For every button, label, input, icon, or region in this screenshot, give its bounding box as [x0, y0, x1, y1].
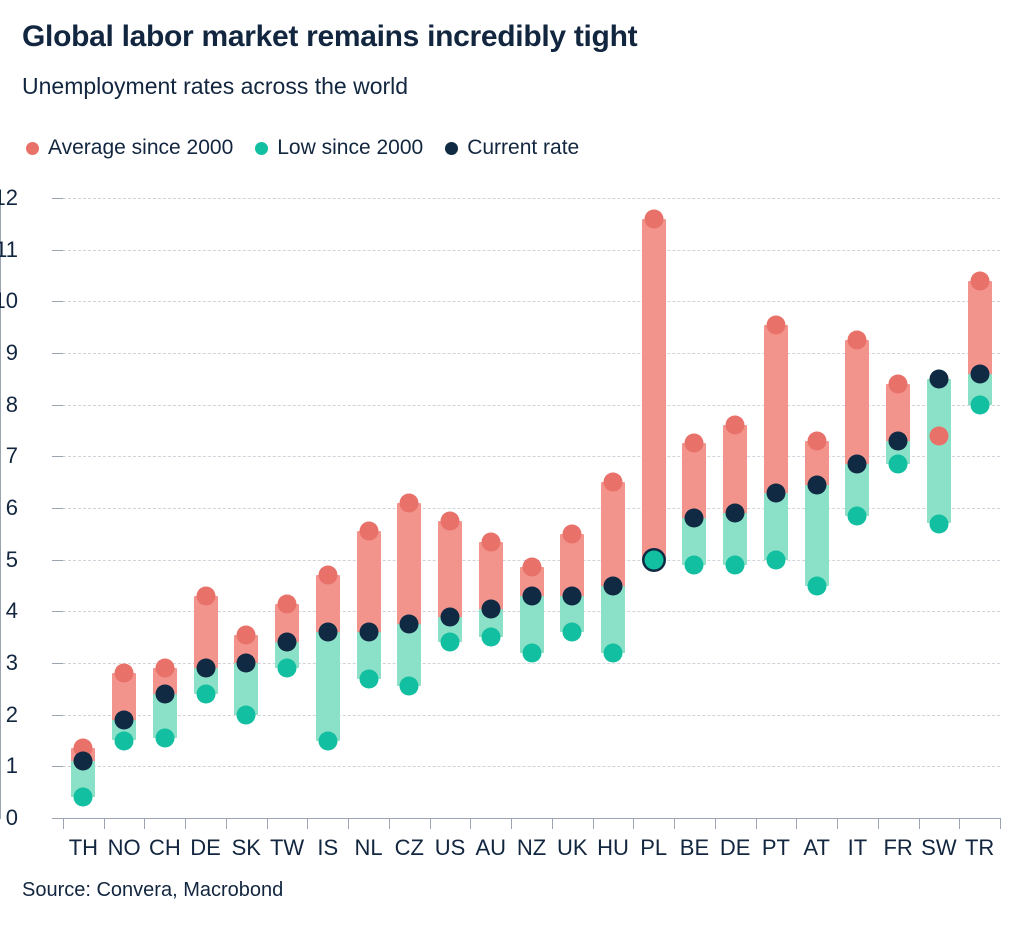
page-title: Global labor market remains incredibly t…: [22, 20, 637, 54]
legend-label-average: Average since 2000: [48, 136, 233, 160]
x-tick-label-pl-14: PL: [640, 835, 667, 861]
x-tick-mark: [837, 818, 838, 829]
y-tick-mark: [52, 405, 63, 406]
y-tick-label: 0: [6, 805, 18, 831]
chart-page: Global labor market remains incredibly t…: [0, 0, 1024, 929]
x-tick-mark: [267, 818, 268, 829]
x-tick-label-ch-2: CH: [149, 835, 181, 861]
x-tick-mark: [919, 818, 920, 829]
x-tick-mark: [959, 818, 960, 829]
x-tick-mark: [144, 818, 145, 829]
bar-group[interactable]: [63, 198, 1000, 818]
y-tick-mark: [52, 715, 63, 716]
y-tick-mark: [52, 560, 63, 561]
x-tick-label-uk-12: UK: [557, 835, 588, 861]
y-tick-mark: [52, 663, 63, 664]
x-tick-mark: [63, 818, 64, 829]
x-tick-mark: [307, 818, 308, 829]
x-tick-mark: [185, 818, 186, 829]
legend-item-average[interactable]: Average since 2000: [26, 136, 233, 160]
y-tick-label: 11: [0, 237, 18, 263]
x-tick-mark: [389, 818, 390, 829]
y-tick-label: 3: [6, 650, 18, 676]
legend-item-low[interactable]: Low since 2000: [255, 136, 423, 160]
source-note: Source: Convera, Macrobond: [22, 879, 283, 902]
y-tick-label: 5: [6, 547, 18, 573]
legend-label-low: Low since 2000: [277, 136, 423, 160]
x-tick-mark: [470, 818, 471, 829]
y-tick-mark: [52, 198, 63, 199]
x-tick-mark: [633, 818, 634, 829]
x-tick-label-at-18: AT: [803, 835, 829, 861]
data-point-low: [970, 395, 989, 414]
x-tick-label-de-3: DE: [190, 835, 221, 861]
x-tick-label-tw-5: TW: [270, 835, 304, 861]
x-tick-label-no-1: NO: [108, 835, 141, 861]
y-tick-mark: [52, 611, 63, 612]
x-tick-label-nl-7: NL: [354, 835, 382, 861]
y-tick-label: 2: [6, 702, 18, 728]
legend-label-current: Current rate: [467, 136, 579, 160]
x-tick-mark: [552, 818, 553, 829]
x-tick-label-is-6: IS: [317, 835, 338, 861]
x-axis-line: [63, 818, 1000, 819]
y-tick-mark: [52, 818, 63, 819]
x-tick-mark: [593, 818, 594, 829]
x-tick-label-fr-20: FR: [883, 835, 912, 861]
legend-dot-low-icon: [255, 142, 268, 155]
x-tick-label-nz-11: NZ: [517, 835, 546, 861]
x-tick-mark: [348, 818, 349, 829]
y-tick-label: 8: [6, 392, 18, 418]
legend-item-current[interactable]: Current rate: [445, 136, 579, 160]
x-tick-mark: [674, 818, 675, 829]
x-tick-label-us-9: US: [435, 835, 466, 861]
legend-dot-current-icon: [445, 142, 458, 155]
legend-dot-average-icon: [26, 142, 39, 155]
x-tick-mark: [756, 818, 757, 829]
x-tick-label-au-10: AU: [475, 835, 506, 861]
x-tick-label-be-15: BE: [680, 835, 709, 861]
x-tick-label-it-19: IT: [848, 835, 868, 861]
x-tick-label-de-16: DE: [720, 835, 751, 861]
x-tick-label-sw-21: SW: [921, 835, 956, 861]
y-tick-mark: [52, 456, 63, 457]
chart-legend: Average since 2000Low since 2000Current …: [26, 133, 601, 163]
x-tick-mark: [1000, 818, 1001, 829]
x-tick-label-hu-13: HU: [597, 835, 629, 861]
y-tick-label: 4: [6, 598, 18, 624]
plot-area: [63, 198, 1000, 818]
page-subtitle: Unemployment rates across the world: [22, 73, 408, 100]
x-tick-mark: [104, 818, 105, 829]
y-tick-mark: [52, 766, 63, 767]
x-tick-label-tr-22: TR: [965, 835, 994, 861]
x-tick-mark: [430, 818, 431, 829]
y-tick-label: 6: [6, 495, 18, 521]
y-tick-mark: [52, 353, 63, 354]
y-tick-mark: [52, 250, 63, 251]
x-tick-label-cz-8: CZ: [395, 835, 424, 861]
data-point-current: [970, 364, 989, 383]
x-tick-mark: [878, 818, 879, 829]
y-tick-label: 12: [0, 185, 18, 211]
x-tick-label-sk-4: SK: [232, 835, 261, 861]
x-tick-mark: [715, 818, 716, 829]
data-point-average: [970, 271, 989, 290]
x-tick-label-pt-17: PT: [762, 835, 790, 861]
x-tick-label-th-0: TH: [69, 835, 98, 861]
x-tick-mark: [226, 818, 227, 829]
y-tick-label: 1: [6, 753, 18, 779]
y-tick-label: 10: [0, 288, 18, 314]
y-tick-label: 7: [6, 443, 18, 469]
y-tick-mark: [52, 508, 63, 509]
y-tick-label: 9: [6, 340, 18, 366]
x-tick-mark: [511, 818, 512, 829]
x-tick-mark: [796, 818, 797, 829]
y-tick-mark: [52, 301, 63, 302]
